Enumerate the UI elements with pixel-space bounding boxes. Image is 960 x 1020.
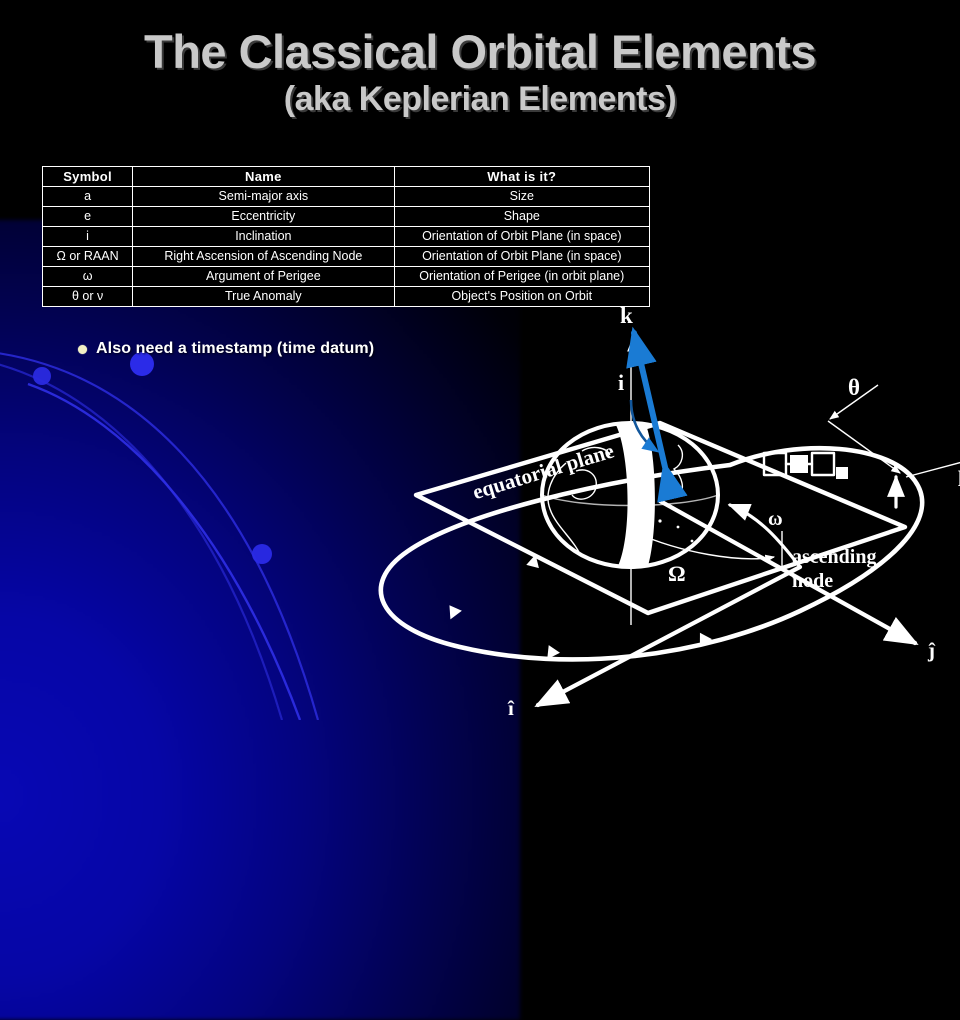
raan-label: Ω bbox=[668, 561, 686, 586]
table-header-row: Symbol Name What is it? bbox=[43, 167, 650, 187]
ascending-node-line1: ascending bbox=[792, 546, 876, 568]
cell-symbol: e bbox=[43, 207, 133, 227]
slide-title-block: The Classical Orbital Elements (aka Kepl… bbox=[0, 28, 960, 118]
cell-name: Eccentricity bbox=[133, 207, 394, 227]
cell-symbol: i bbox=[43, 227, 133, 247]
cell-symbol: θ or ν bbox=[43, 287, 133, 307]
cell-name: True Anomaly bbox=[133, 287, 394, 307]
page-title: The Classical Orbital Elements bbox=[0, 28, 960, 76]
cell-symbol: Ω or RAAN bbox=[43, 247, 133, 267]
cell-name: Right Ascension of Ascending Node bbox=[133, 247, 394, 267]
cell-name: Argument of Perigee bbox=[133, 267, 394, 287]
cell-what: Orientation of Orbit Plane (in space) bbox=[394, 227, 649, 247]
table-row: θ or ν True Anomaly Object's Position on… bbox=[43, 287, 650, 307]
table-row: ω Argument of Perigee Orientation of Per… bbox=[43, 267, 650, 287]
cell-name: Semi-major axis bbox=[133, 187, 394, 207]
table-row: e Eccentricity Shape bbox=[43, 207, 650, 227]
cell-symbol: a bbox=[43, 187, 133, 207]
page-subtitle: (aka Keplerian Elements) bbox=[0, 80, 960, 118]
cell-symbol: ω bbox=[43, 267, 133, 287]
orbital-elements-table: Symbol Name What is it? a Semi-major axi… bbox=[42, 166, 650, 307]
table-row: Ω or RAAN Right Ascension of Ascending N… bbox=[43, 247, 650, 267]
true-anomaly-label: θ bbox=[848, 375, 860, 400]
cell-what: Size bbox=[394, 187, 649, 207]
cell-what: Object's Position on Orbit bbox=[394, 287, 649, 307]
i-hat-label: î bbox=[507, 696, 515, 720]
inclination-label: i bbox=[618, 370, 624, 395]
column-header-symbol: Symbol bbox=[43, 167, 133, 187]
arg-perigee-label: ω bbox=[768, 508, 783, 530]
cell-what: Shape bbox=[394, 207, 649, 227]
cell-name: Inclination bbox=[133, 227, 394, 247]
bullet-dot-icon bbox=[78, 345, 87, 354]
list-item: Also need a timestamp (time datum) bbox=[78, 340, 374, 358]
ascending-node-line2: node bbox=[792, 570, 833, 592]
table-row: i Inclination Orientation of Orbit Plane… bbox=[43, 227, 650, 247]
bullet-text: Also need a timestamp (time datum) bbox=[96, 340, 374, 358]
cell-what: Orientation of Perigee (in orbit plane) bbox=[394, 267, 649, 287]
column-header-what: What is it? bbox=[394, 167, 649, 187]
table-row: a Semi-major axis Size bbox=[43, 187, 650, 207]
true-anomaly-angle: θ bbox=[828, 295, 960, 473]
j-hat-label: ĵ bbox=[927, 638, 936, 662]
i-hat-vector: î bbox=[507, 567, 800, 720]
column-header-name: Name bbox=[133, 167, 394, 187]
cell-what: Orientation of Orbit Plane (in space) bbox=[394, 247, 649, 267]
orbital-elements-diagram: equatorial plane bbox=[330, 295, 960, 720]
